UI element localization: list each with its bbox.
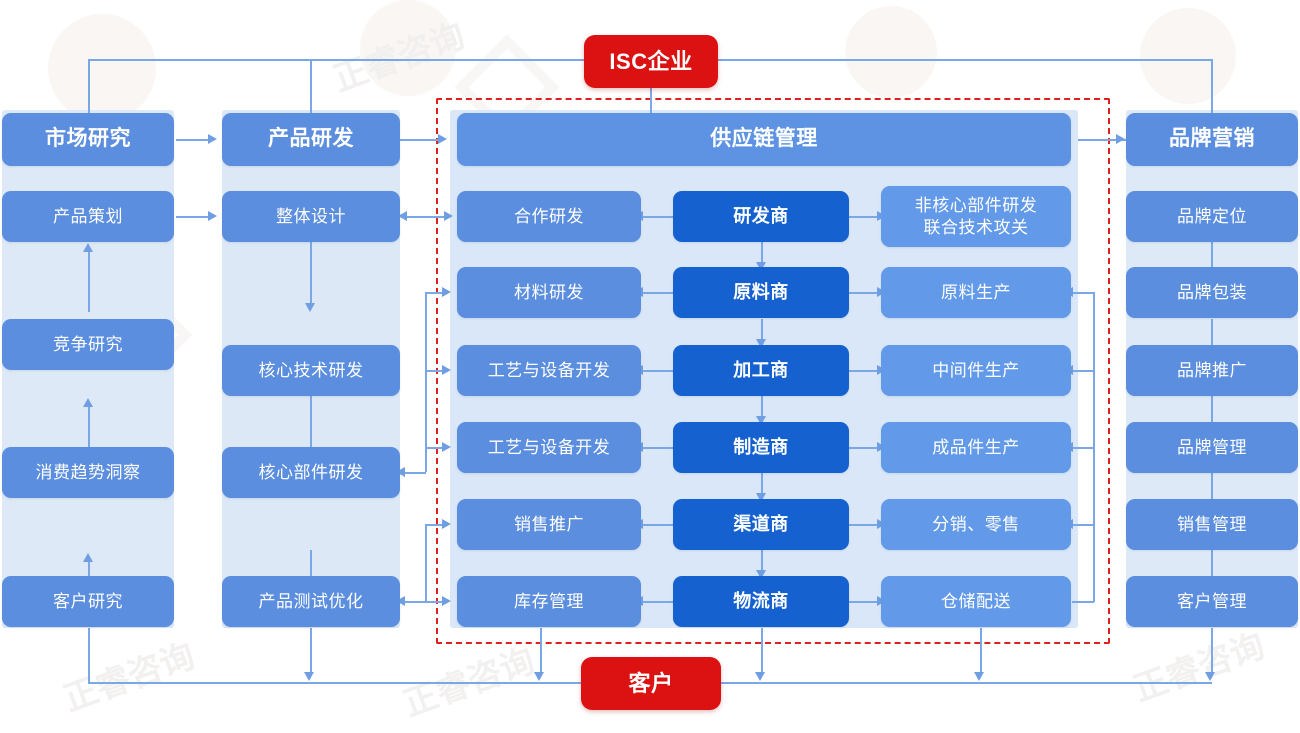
watermark-blob bbox=[1140, 8, 1236, 104]
arrow-right-design-coop bbox=[444, 211, 453, 221]
connector-top-to-brand bbox=[1211, 59, 1213, 113]
supply-row3-left[interactable]: 工艺与设备开发 bbox=[457, 345, 641, 396]
supply-row1-right-line1: 非核心部件研发 bbox=[915, 195, 1038, 216]
connector-left-bus-upper bbox=[425, 292, 427, 472]
arrow-right-bus-l-r6 bbox=[442, 596, 451, 606]
column-header-rnd[interactable]: 产品研发 bbox=[222, 113, 400, 166]
supply-row6-right[interactable]: 仓储配送 bbox=[881, 576, 1071, 627]
supply-row1-center[interactable]: 研发商 bbox=[673, 191, 849, 242]
arrow-right-bus-l-r5 bbox=[442, 519, 451, 529]
connector-warehouse-to-bottom bbox=[980, 628, 982, 674]
supply-row1-right-line2: 联合技术攻关 bbox=[924, 217, 1029, 238]
connector-row6-left bbox=[641, 601, 673, 603]
connector-rnd-supply-head bbox=[398, 139, 442, 141]
brand-item-2[interactable]: 品牌包装 bbox=[1126, 267, 1298, 318]
connector-plan-design bbox=[176, 216, 212, 218]
connector-right-bus-r5 bbox=[1072, 524, 1094, 526]
connector-rnd-to-bottom bbox=[310, 628, 312, 674]
supply-row5-center[interactable]: 渠道商 bbox=[673, 499, 849, 550]
connector-row5-left bbox=[641, 524, 673, 526]
connector-row2-left bbox=[641, 292, 673, 294]
arrow-right-market-rnd bbox=[208, 134, 217, 144]
connector-market-up-1 bbox=[88, 250, 90, 312]
rnd-item-3[interactable]: 核心部件研发 bbox=[222, 447, 400, 498]
brand-item-1[interactable]: 品牌定位 bbox=[1126, 191, 1298, 242]
supply-row6-center[interactable]: 物流商 bbox=[673, 576, 849, 627]
supply-row4-left[interactable]: 工艺与设备开发 bbox=[457, 422, 641, 473]
supply-row4-right[interactable]: 成品件生产 bbox=[881, 422, 1071, 473]
watermark-text: 正睿咨询 bbox=[1126, 618, 1271, 711]
brand-item-5[interactable]: 销售管理 bbox=[1126, 499, 1298, 550]
arrow-right-bus-u-r2 bbox=[442, 287, 451, 297]
arrow-right-bus-u-r4 bbox=[442, 442, 451, 452]
connector-brand-to-bottom bbox=[1211, 628, 1213, 674]
brand-item-3[interactable]: 品牌推广 bbox=[1126, 345, 1298, 396]
rnd-item-2[interactable]: 核心技术研发 bbox=[222, 345, 400, 396]
supply-row2-right[interactable]: 原料生产 bbox=[881, 267, 1071, 318]
supply-row2-center[interactable]: 原料商 bbox=[673, 267, 849, 318]
connector-top-to-rnd bbox=[310, 59, 312, 113]
connector-row3-left bbox=[641, 370, 673, 372]
watermark-text: 正睿咨询 bbox=[56, 628, 201, 721]
connector-left-bus-l-to-test bbox=[404, 601, 426, 603]
isc-enterprise-badge[interactable]: ISC企业 bbox=[584, 35, 718, 88]
brand-item-6[interactable]: 客户管理 bbox=[1126, 576, 1298, 627]
arrow-down-logistics-bottom bbox=[755, 672, 765, 681]
arrow-right-supply-brand bbox=[1116, 134, 1125, 144]
diagram-canvas: 正睿咨询 正睿咨询 正睿咨询 正睿咨询 bbox=[0, 0, 1300, 733]
connector-rnd-down-1 bbox=[310, 242, 312, 305]
connector-inventory-to-bottom bbox=[540, 628, 542, 674]
supply-row1-left[interactable]: 合作研发 bbox=[457, 191, 641, 242]
supply-row4-center[interactable]: 制造商 bbox=[673, 422, 849, 473]
arrow-up-market-2 bbox=[83, 398, 93, 407]
supply-row2-left[interactable]: 材料研发 bbox=[457, 267, 641, 318]
market-item-4[interactable]: 客户研究 bbox=[2, 576, 174, 627]
connector-left-bus-lower bbox=[425, 524, 427, 602]
watermark-blob bbox=[845, 6, 937, 98]
brand-item-4[interactable]: 品牌管理 bbox=[1126, 422, 1298, 473]
supply-row5-right[interactable]: 分销、零售 bbox=[881, 499, 1071, 550]
connector-right-bus-r2 bbox=[1072, 292, 1094, 294]
supply-row5-left[interactable]: 销售推广 bbox=[457, 499, 641, 550]
arrow-down-inventory-bottom bbox=[534, 672, 544, 681]
arrow-up-market-1 bbox=[83, 243, 93, 252]
arrow-down-brand-bottom bbox=[1205, 672, 1215, 681]
watermark-blob bbox=[48, 14, 156, 122]
arrow-right-bus-u-r3 bbox=[442, 365, 451, 375]
watermark-text: 正睿咨询 bbox=[396, 633, 541, 726]
connector-top-to-market bbox=[88, 59, 90, 113]
arrow-down-rnd-1 bbox=[305, 303, 315, 312]
arrow-down-warehouse-bottom bbox=[974, 672, 984, 681]
market-item-2[interactable]: 竞争研究 bbox=[2, 319, 174, 370]
market-item-3[interactable]: 消费趋势洞察 bbox=[2, 447, 174, 498]
arrow-down-rnd-bottom bbox=[304, 672, 314, 681]
connector-row4-left bbox=[641, 447, 673, 449]
supply-row6-left[interactable]: 库存管理 bbox=[457, 576, 641, 627]
connector-market-to-bottom bbox=[88, 628, 90, 683]
column-header-market[interactable]: 市场研究 bbox=[2, 113, 174, 166]
rnd-item-1[interactable]: 整体设计 bbox=[222, 191, 400, 242]
connector-left-bus-u-to-core bbox=[404, 472, 426, 474]
arrow-right-plan-design bbox=[208, 211, 217, 221]
column-header-brand[interactable]: 品牌营销 bbox=[1126, 113, 1298, 166]
market-item-1[interactable]: 产品策划 bbox=[2, 191, 174, 242]
supply-row3-right[interactable]: 中间件生产 bbox=[881, 345, 1071, 396]
supply-row3-center[interactable]: 加工商 bbox=[673, 345, 849, 396]
connector-right-bus-tail bbox=[1072, 601, 1094, 603]
connector-market-rnd-head bbox=[176, 139, 212, 141]
arrow-up-market-3 bbox=[83, 553, 93, 562]
customer-badge[interactable]: 客户 bbox=[581, 657, 721, 710]
arrow-right-rnd-supply bbox=[438, 134, 447, 144]
connector-right-bus-r3 bbox=[1072, 370, 1094, 372]
rnd-item-4[interactable]: 产品测试优化 bbox=[222, 576, 400, 627]
connector-logistics-to-bottom bbox=[761, 628, 763, 674]
supply-row1-right[interactable]: 非核心部件研发 联合技术攻关 bbox=[881, 186, 1071, 247]
connector-right-bus-r4 bbox=[1072, 447, 1094, 449]
column-header-supply[interactable]: 供应链管理 bbox=[457, 113, 1071, 166]
connector-row1-left bbox=[641, 216, 673, 218]
